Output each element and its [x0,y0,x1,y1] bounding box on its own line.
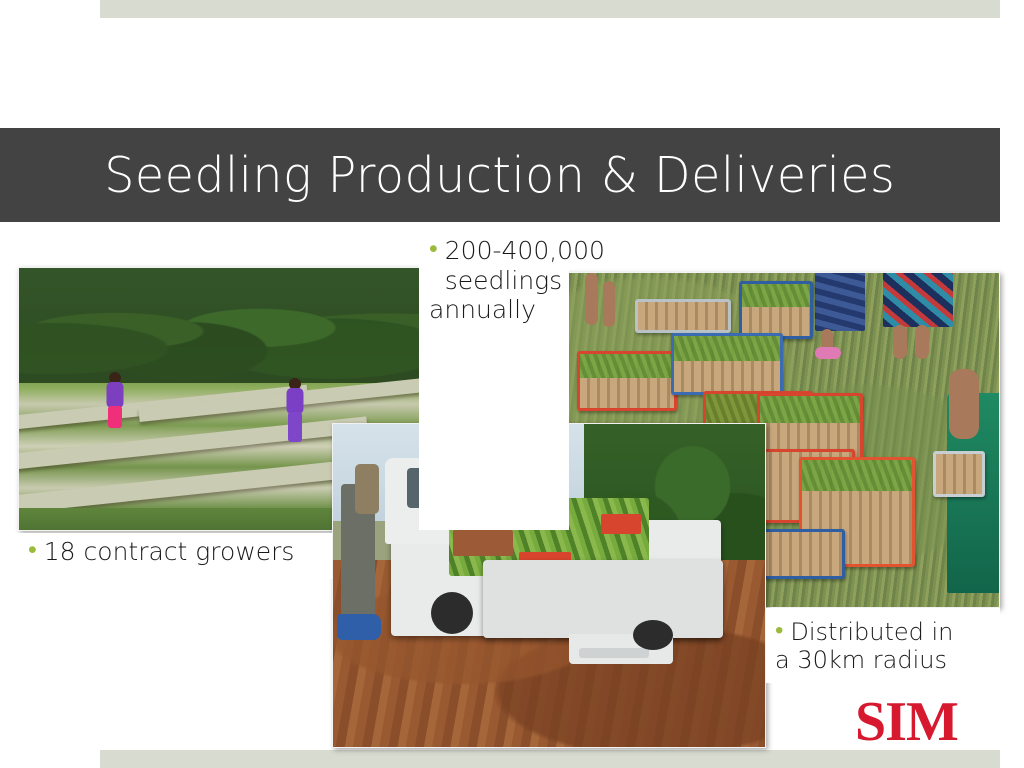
bullet-dot-icon: • [28,537,37,562]
bullet-annual-line1: • 200-400,000 seedlings [429,236,729,295]
bullet-radius-text2: a 30km radius [775,646,947,674]
bullet-radius-line1: • Distributed in [775,618,1000,646]
callout-contract-growers: • 18 contract growers [14,533,332,579]
bullet-growers-line1: • 18 contract growers [28,537,294,567]
sim-logo: SIM [855,694,958,750]
callout-annual-production: • 200-400,000 seedlings annually [419,228,569,530]
bullet-annual-text2: annually [429,295,536,325]
bullet-radius-text1: Distributed in [790,618,953,646]
page-title: Seedling Production & Deliveries [104,151,895,200]
slide-title-bar: Seedling Production & Deliveries [0,128,1000,222]
bullet-radius-line2: a 30km radius [775,646,1000,674]
slide-canvas: • 200-400,000 seedlings annually • 18 co… [0,0,1024,768]
bullet-dot-icon: • [429,236,438,261]
decorative-band-top [100,0,1000,18]
bullet-growers-text1: 18 contract growers [44,537,295,567]
callout-distribution-radius: • Distributed in a 30km radius [766,608,1000,683]
bullet-annual-text1: 200-400,000 seedlings [445,236,729,295]
bullet-dot-icon: • [775,618,783,642]
bullet-annual-line2: annually [429,295,729,325]
